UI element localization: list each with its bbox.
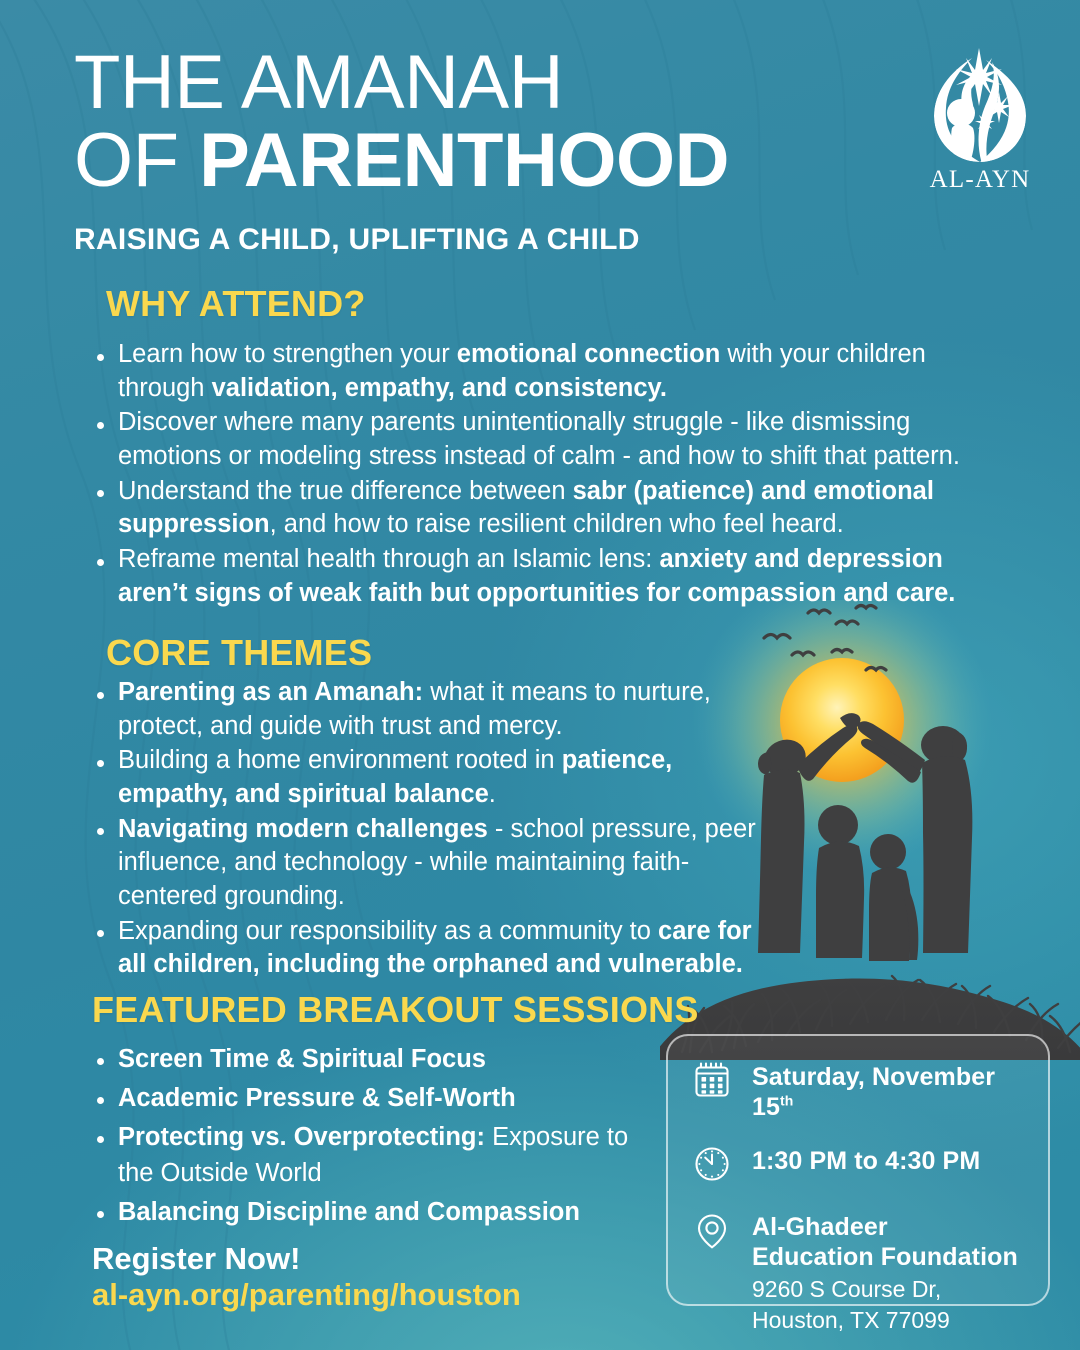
list-item: Navigating modern challenges - school pr…: [88, 813, 778, 914]
bullet-text: Reframe mental health through an Islamic…: [118, 545, 659, 573]
event-date-ordinal: th: [780, 1093, 793, 1109]
title-line-2: OF PARENTHOOD: [74, 124, 934, 198]
breakout-sessions-bullet-list: Screen Time & Spiritual FocusAcademic Pr…: [88, 1042, 668, 1234]
bullet-text-bold: validation, empathy, and consistency.: [212, 374, 667, 402]
list-item: Learn how to strengthen your emotional c…: [88, 338, 1018, 405]
list-item: Screen Time & Spiritual Focus: [88, 1042, 668, 1077]
list-item: Reframe mental health through an Islamic…: [88, 543, 1018, 610]
event-date-row: Saturday, November 15th: [690, 1058, 1028, 1122]
bullet-text: Understand the true difference between: [118, 477, 573, 505]
section-heading-why-attend: WHY ATTEND?: [106, 283, 366, 325]
venue-address-line-1: 9260 S Course Dr,: [752, 1275, 1018, 1303]
bullet-text-bold: emotional connection: [457, 340, 721, 368]
event-details-box: Saturday, November 15th: [666, 1034, 1050, 1306]
bullet-text: Learn how to strengthen your: [118, 340, 457, 368]
event-time: 1:30 PM to 4:30 PM: [752, 1146, 980, 1176]
core-themes-bullet-list: Parenting as an Amanah: what it means to…: [88, 676, 778, 983]
bullet-text-bold: Parenting as an Amanah:: [118, 678, 423, 706]
list-item: Protecting vs. Overprotecting: Exposure …: [88, 1120, 668, 1190]
venue-address-line-2: Houston, TX 77099: [752, 1306, 1018, 1334]
bullet-text: Discover where many parents unintentiona…: [118, 408, 960, 470]
event-date: Saturday, November 15th: [752, 1062, 1028, 1122]
section-heading-featured-breakout-sessions: FEATURED BREAKOUT SESSIONS: [92, 989, 699, 1031]
venue-name-line-1: Al-Ghadeer: [752, 1212, 1018, 1242]
bullet-text: .: [489, 780, 496, 808]
list-item: Parenting as an Amanah: what it means to…: [88, 676, 778, 743]
registration-footer: Register Now! al-ayn.org/parenting/houst…: [92, 1242, 521, 1313]
bullet-text: , and how to raise resilient children wh…: [270, 510, 844, 538]
droplet-figure-stars-icon: [916, 36, 1044, 168]
list-item: Expanding our responsibility as a commun…: [88, 915, 778, 982]
clock-icon: [690, 1142, 736, 1188]
calendar-icon: [690, 1058, 736, 1104]
list-item: Discover where many parents unintentiona…: [88, 406, 1018, 473]
bullet-text-bold: Screen Time & Spiritual Focus: [118, 1045, 486, 1073]
map-pin-icon: [690, 1208, 736, 1254]
why-attend-bullet-list: Learn how to strengthen your emotional c…: [88, 338, 1018, 611]
poster-subtitle: RAISING A CHILD, UPLIFTING A CHILD: [74, 223, 934, 257]
poster-root: THE AMANAH OF PARENTHOOD RAISING A CHILD…: [0, 0, 1080, 1350]
title-line-1: THE AMANAH: [74, 40, 563, 125]
bullet-text-bold: Academic Pressure & Self-Worth: [118, 1084, 516, 1112]
title-line-2-bold: PARENTHOOD: [199, 118, 729, 203]
poster-header: THE AMANAH OF PARENTHOOD RAISING A CHILD…: [74, 46, 934, 257]
event-location-row: Al-Ghadeer Education Foundation 9260 S C…: [690, 1208, 1028, 1334]
logo-wordmark: AL-AYN: [916, 166, 1044, 194]
bullet-text-bold: Navigating modern challenges: [118, 815, 488, 843]
list-item: Building a home environment rooted in pa…: [88, 744, 778, 811]
registration-url[interactable]: al-ayn.org/parenting/houston: [92, 1277, 521, 1314]
bullet-text: Building a home environment rooted in: [118, 746, 562, 774]
title-line-2-prefix: OF: [74, 118, 199, 203]
bullet-text-bold: Balancing Discipline and Compassion: [118, 1198, 580, 1226]
event-time-row: 1:30 PM to 4:30 PM: [690, 1142, 1028, 1188]
bullet-text-bold: Protecting vs. Overprotecting:: [118, 1123, 485, 1151]
list-item: Balancing Discipline and Compassion: [88, 1195, 668, 1230]
section-heading-core-themes: CORE THEMES: [106, 632, 372, 674]
bullet-text: Expanding our responsibility as a commun…: [118, 917, 658, 945]
venue-name-line-2: Education Foundation: [752, 1242, 1018, 1272]
event-date-text-group: Saturday, November 15th: [752, 1058, 1028, 1122]
list-item: Academic Pressure & Self-Worth: [88, 1081, 668, 1116]
event-time-text-group: 1:30 PM to 4:30 PM: [752, 1142, 980, 1176]
list-item: Understand the true difference between s…: [88, 475, 1018, 542]
al-ayn-logo: AL-AYN: [916, 36, 1044, 204]
register-label: Register Now!: [92, 1242, 521, 1277]
event-location-text-group: Al-Ghadeer Education Foundation 9260 S C…: [752, 1208, 1018, 1334]
page-title: THE AMANAH OF PARENTHOOD: [74, 46, 934, 199]
